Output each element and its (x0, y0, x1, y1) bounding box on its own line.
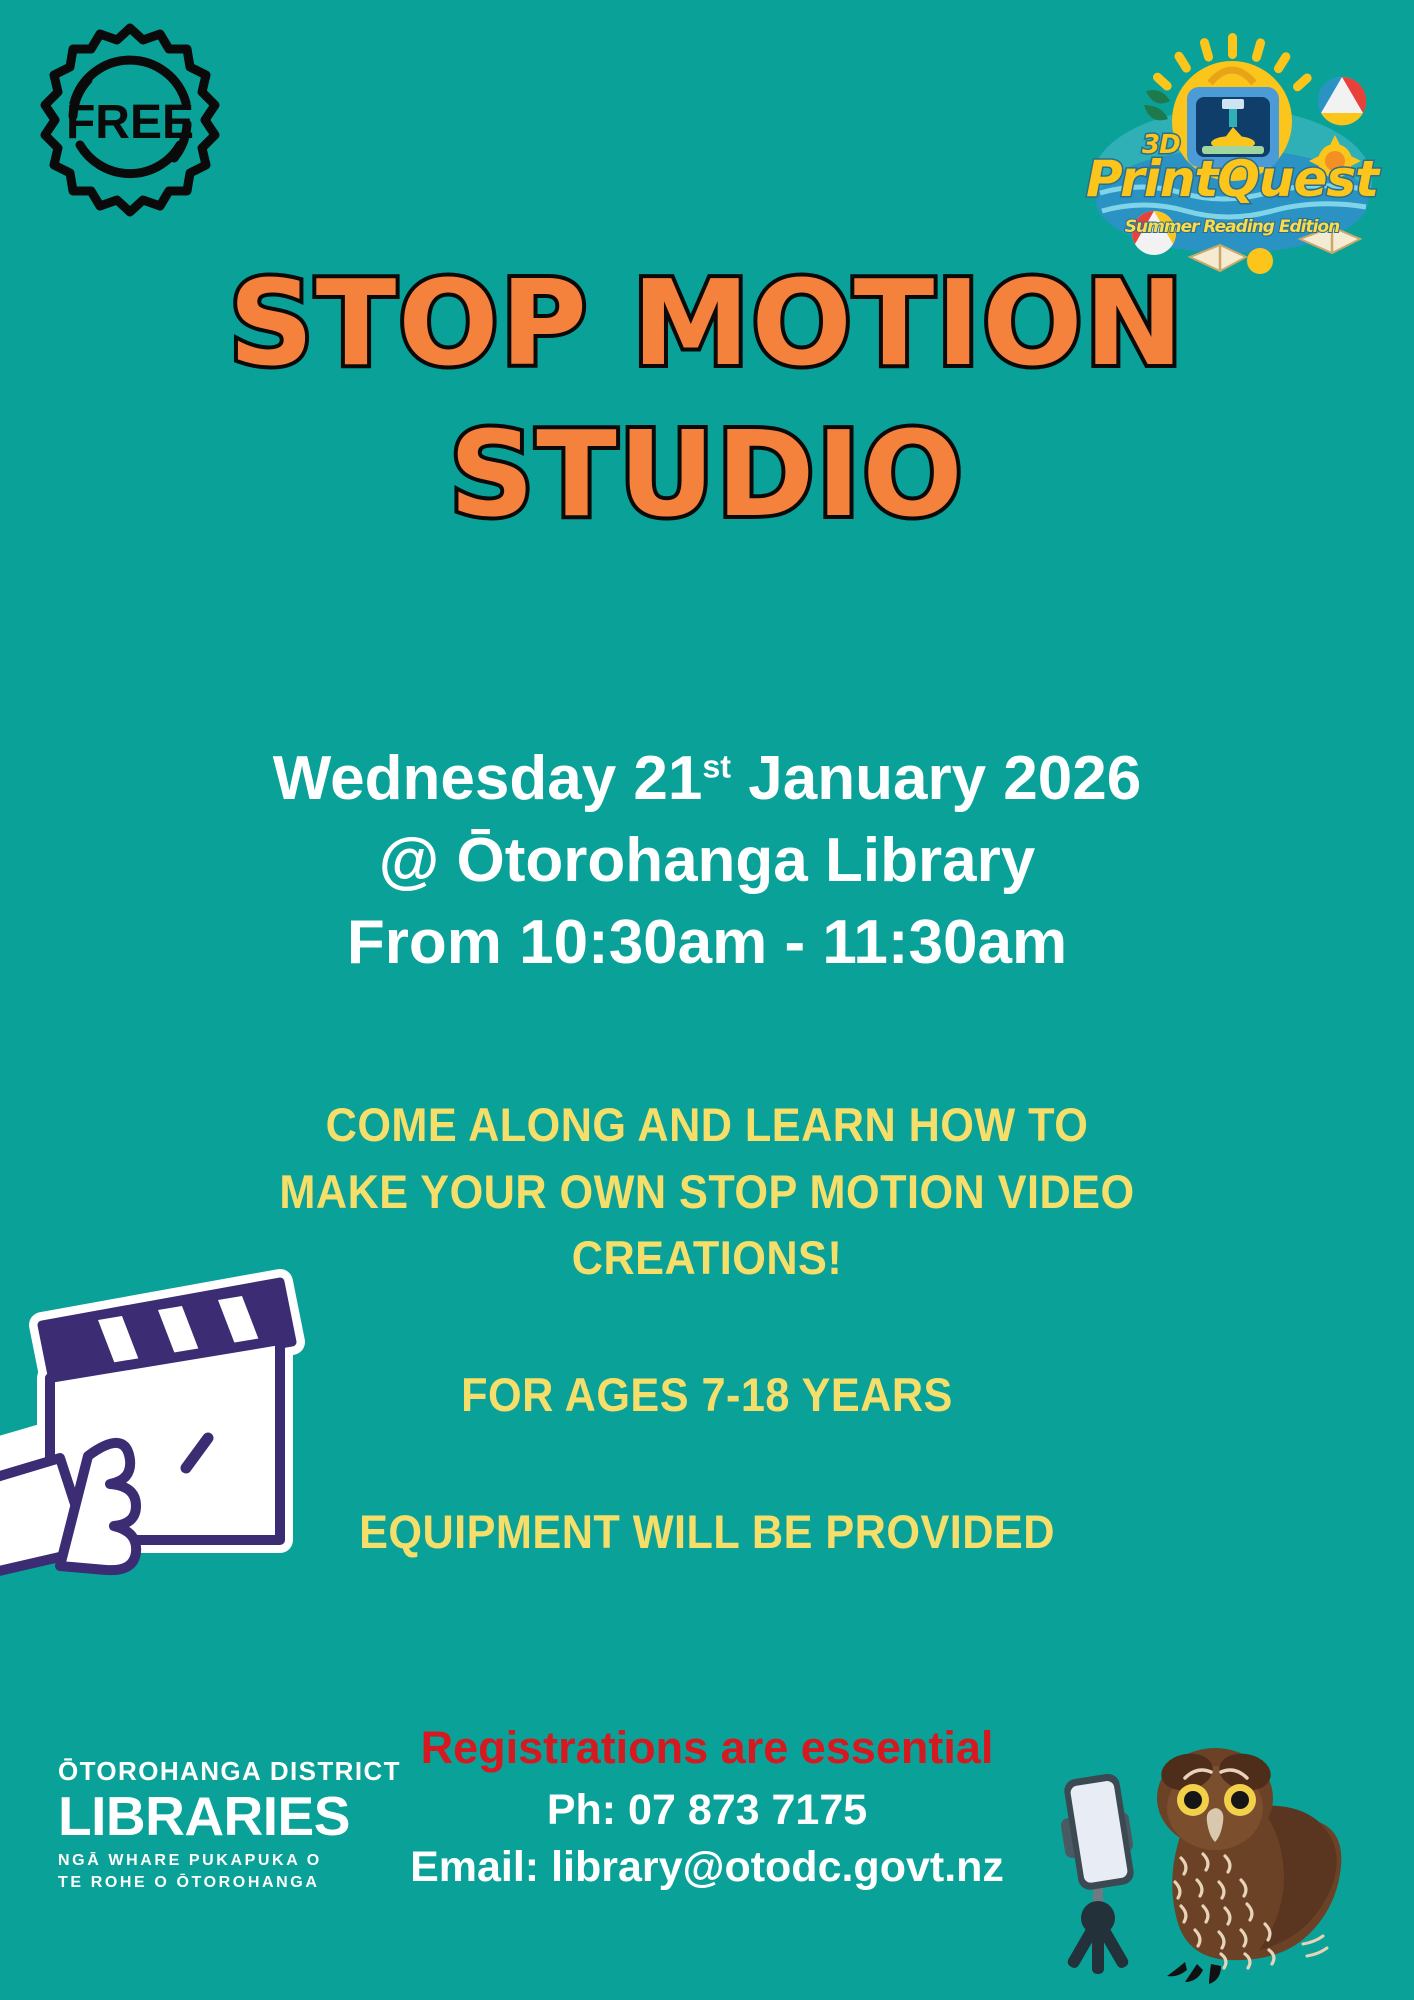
logo-maori-line-2: TE ROHE O ŌTOROHANGA (58, 1872, 358, 1894)
clapperboard-illustration (0, 1250, 310, 1590)
event-date-rest: January 2026 (731, 744, 1141, 813)
free-badge-label: FREE (66, 96, 194, 149)
title-line-2: STUDIO (0, 399, 1414, 550)
library-logo: ŌTOROHANGA DISTRICT LIBRARIES NGĀ WHARE … (58, 1756, 358, 1894)
logo-maori-line-1: NGĀ WHARE PUKAPUKA O (58, 1850, 358, 1872)
morepork-owl-icon (1157, 1748, 1341, 1984)
smartphone-icon (1063, 1772, 1136, 1891)
owl-and-tripod-illustration (1035, 1740, 1355, 2000)
description-line-1: COME ALONG AND LEARN HOW TO (57, 1092, 1358, 1159)
printquest-logo: 3D PrintQuest Summer Reading Edition (1082, 25, 1382, 275)
event-date-ordinal: st (702, 748, 731, 784)
printquest-name-text: PrintQuest (1082, 150, 1382, 208)
poster-title: STOP MOTION STUDIO (0, 248, 1414, 550)
logo-district-text: ŌTOROHANGA DISTRICT (58, 1756, 358, 1787)
poster-canvas: FREE (0, 0, 1414, 2000)
event-details: Wednesday 21st January 2026 @ Ōtorohanga… (0, 738, 1414, 983)
tripod-icon (1066, 1882, 1130, 1974)
event-date: Wednesday 21st January 2026 (0, 738, 1414, 820)
description-line-2: MAKE YOUR OWN STOP MOTION VIDEO (57, 1159, 1358, 1226)
title-line-1: STOP MOTION (0, 248, 1414, 399)
event-venue: @ Ōtorohanga Library (0, 820, 1414, 902)
event-date-main: Wednesday 21 (273, 744, 703, 813)
free-badge: FREE (30, 20, 230, 220)
printquest-tagline-text: Summer Reading Edition (1082, 217, 1382, 237)
event-time: From 10:30am - 11:30am (0, 902, 1414, 984)
logo-libraries-text: LIBRARIES (58, 1784, 358, 1848)
